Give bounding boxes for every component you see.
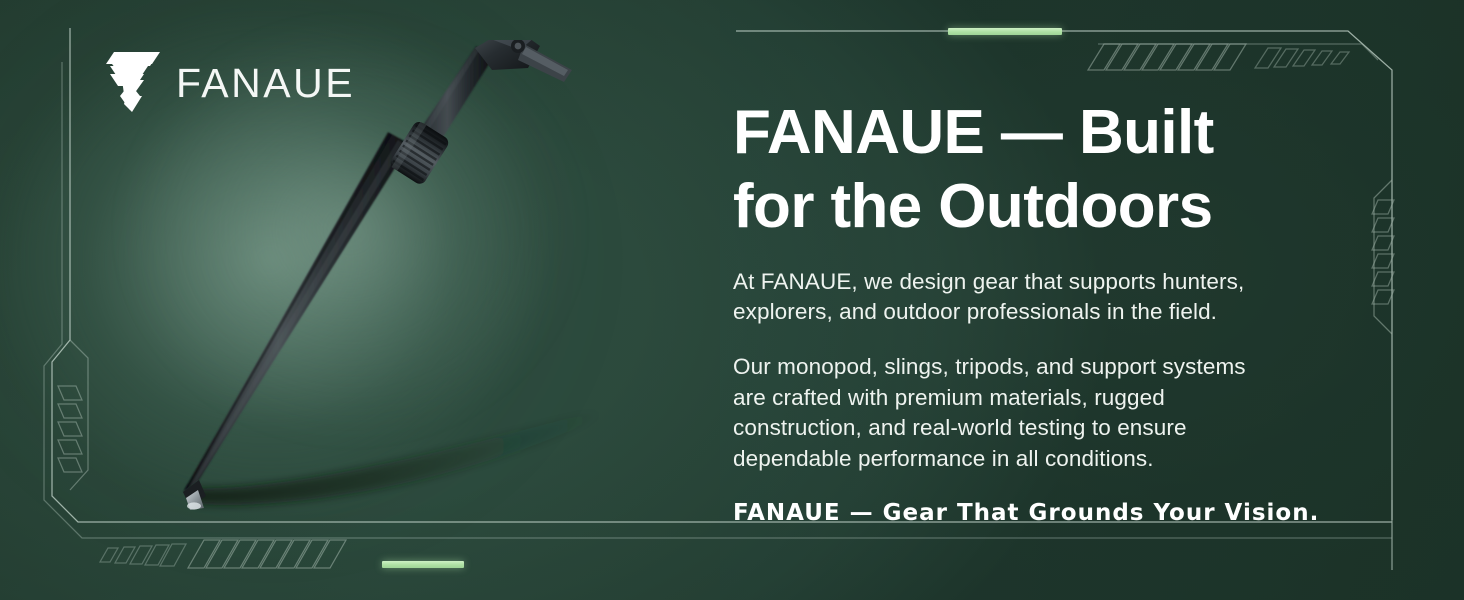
brand-tagline: FANAUE — Gear That Grounds Your Vision. [733,500,1373,526]
intro-paragraph: At FANAUE, we design gear that supports … [733,267,1373,328]
products-paragraph: Our monopod, slings, tripods, and suppor… [733,352,1373,474]
brand-banner: FANAUE [0,0,1464,600]
brand-logo[interactable]: FANAUE [104,52,355,114]
product-image [120,40,640,540]
accent-bar-bottom [382,561,464,568]
product-shadow [190,411,602,505]
page-title: FANAUE — Built for the Outdoors [733,96,1373,245]
logo-wordmark: FANAUE [176,63,355,104]
fanaue-f-mark-icon [104,52,162,114]
accent-bar-top [948,28,1062,35]
content-column: FANAUE — Built for the Outdoors At FANAU… [733,96,1373,526]
